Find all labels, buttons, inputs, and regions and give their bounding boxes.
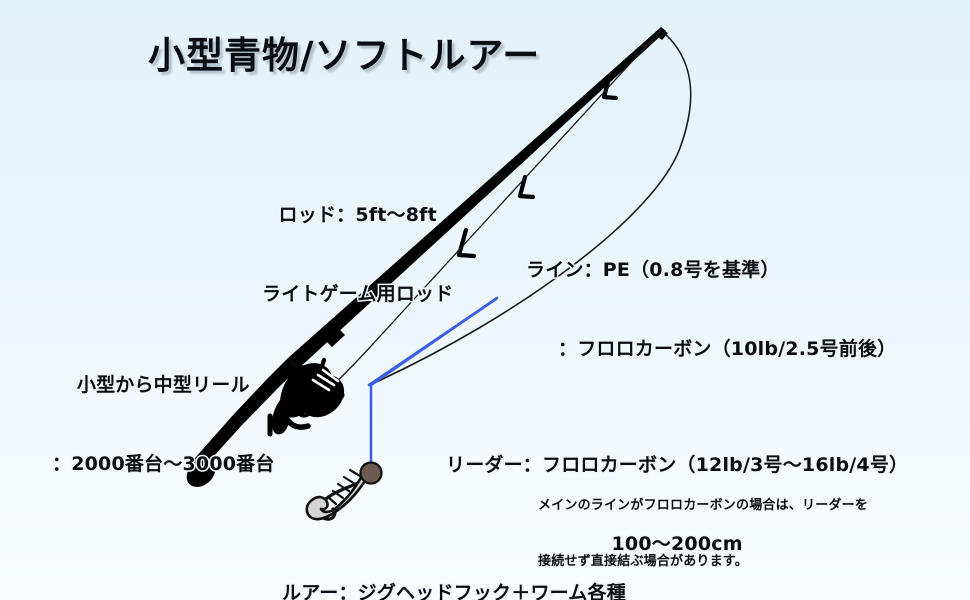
reel-label-line2: ：2000番台〜3000番台	[52, 451, 275, 477]
reel-label: 小型から中型リール ：2000番台〜3000番台	[52, 320, 275, 530]
lure-worm-body	[307, 474, 367, 519]
rod-label-line2: ライトゲーム用ロッド	[262, 281, 453, 307]
rod-guide-2	[459, 230, 474, 256]
lure-label-line1: ルアー：ジグヘッドフック＋ワーム各種	[282, 580, 626, 600]
rod-label-line1: ロッド：5ft〜8ft	[262, 202, 453, 228]
lure-jighead-worm-group	[307, 463, 382, 520]
lure-label: ルアー：ジグヘッドフック＋ワーム各種	[282, 528, 626, 600]
line-label: ライン：PE（0.8号を基準） ：フロロカーボン（10lb/2.5号前後）	[526, 205, 896, 415]
rod-label: ロッド：5ft〜8ft ライトゲーム用ロッド	[262, 150, 453, 360]
lure-jig-head	[361, 463, 382, 484]
reel-label-line1: 小型から中型リール	[52, 372, 275, 398]
leader-note-line1: メインのラインがフロロカーボンの場合は、リーダーを	[538, 497, 868, 516]
reel-drag-knob	[336, 391, 345, 400]
tackle-diagram-canvas: 小型青物/ソフトルアー ロッド：5ft〜8ft ライトゲーム用ロッド ライン：P…	[0, 0, 970, 600]
line-label-line1: ライン：PE（0.8号を基準）	[526, 257, 896, 283]
rod-guide-3	[520, 177, 533, 197]
line-label-line2: ：フロロカーボン（10lb/2.5号前後）	[526, 336, 896, 362]
diagram-title: 小型青物/ソフトルアー	[148, 30, 540, 81]
